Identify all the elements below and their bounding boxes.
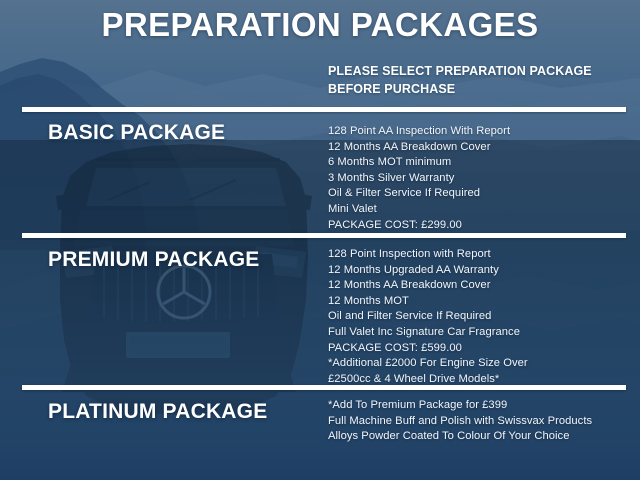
package-premium-features: 128 Point Inspection with Report12 Month… xyxy=(328,247,528,387)
feature-item: Alloys Powder Coated To Colour Of Your C… xyxy=(328,429,592,445)
feature-item: £2500cc & 4 Wheel Drive Models* xyxy=(328,372,528,388)
page-title: PREPARATION PACKAGES xyxy=(0,6,640,44)
feature-item: *Additional £2000 For Engine Size Over xyxy=(328,356,528,372)
instruction-line-2: BEFORE PURCHASE xyxy=(328,81,592,99)
selection-instruction: PLEASE SELECT PREPARATION PACKAGE BEFORE… xyxy=(328,63,592,99)
package-premium-title: PREMIUM PACKAGE xyxy=(48,248,259,272)
divider-above-basic xyxy=(22,107,626,112)
feature-item: Oil and Filter Service If Required xyxy=(328,309,528,325)
feature-item: 6 Months MOT minimum xyxy=(328,155,510,171)
feature-item: 128 Point Inspection with Report xyxy=(328,247,528,263)
feature-item: 12 Months Upgraded AA Warranty xyxy=(328,263,528,279)
feature-item: Full Valet Inc Signature Car Fragrance xyxy=(328,325,528,341)
feature-item: PACKAGE COST: £299.00 xyxy=(328,218,510,234)
preparation-packages-banner: PREPARATION PACKAGES PLEASE SELECT PREPA… xyxy=(0,0,640,480)
package-platinum-title: PLATINUM PACKAGE xyxy=(48,400,267,424)
package-basic-title: BASIC PACKAGE xyxy=(48,121,225,145)
feature-item: Full Machine Buff and Polish with Swissv… xyxy=(328,414,592,430)
instruction-line-1: PLEASE SELECT PREPARATION PACKAGE xyxy=(328,63,592,81)
feature-item: 128 Point AA Inspection With Report xyxy=(328,124,510,140)
feature-item: *Add To Premium Package for £399 xyxy=(328,398,592,414)
divider-above-platinum xyxy=(22,385,626,390)
feature-item: Mini Valet xyxy=(328,202,510,218)
feature-item: 3 Months Silver Warranty xyxy=(328,171,510,187)
package-basic-features: 128 Point AA Inspection With Report12 Mo… xyxy=(328,124,510,233)
feature-item: 12 Months AA Breakdown Cover xyxy=(328,140,510,156)
feature-item: Oil & Filter Service If Required xyxy=(328,186,510,202)
divider-above-premium xyxy=(22,233,626,238)
feature-item: 12 Months MOT xyxy=(328,294,528,310)
feature-item: 12 Months AA Breakdown Cover xyxy=(328,278,528,294)
feature-item: PACKAGE COST: £599.00 xyxy=(328,341,528,357)
package-platinum-features: *Add To Premium Package for £399Full Mac… xyxy=(328,398,592,445)
